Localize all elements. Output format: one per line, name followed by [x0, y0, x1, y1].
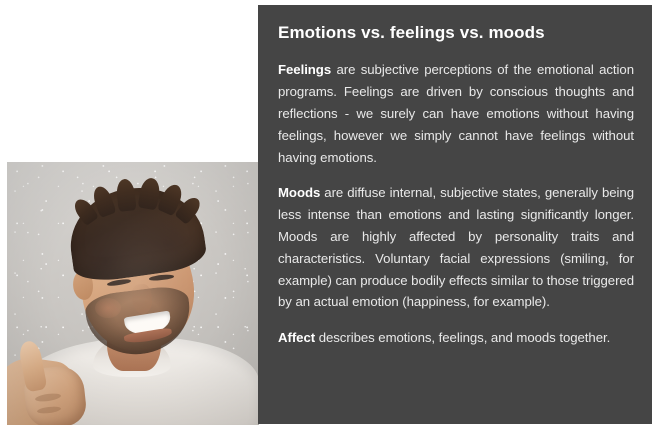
paragraph-moods: Moods are diffuse internal, subjective s…: [278, 182, 634, 313]
portrait-photo: [7, 162, 259, 425]
paragraph-body: are subjective perceptions of the emotio…: [278, 62, 634, 164]
paragraph-affect: Affect describes emotions, feelings, and…: [278, 327, 634, 349]
photo-vignette: [7, 162, 259, 425]
paragraph-body: describes emotions, feelings, and moods …: [315, 330, 610, 345]
paragraph-lead: Feelings: [278, 62, 331, 77]
panel-title: Emotions vs. feelings vs. moods: [278, 23, 634, 43]
paragraph-body: are diffuse internal, subjective states,…: [278, 185, 634, 309]
paragraph-lead: Moods: [278, 185, 320, 200]
paragraph-feelings: Feelings are subjective perceptions of t…: [278, 59, 634, 168]
page-canvas: Emotions vs. feelings vs. moods Feelings…: [0, 0, 657, 436]
paragraph-lead: Affect: [278, 330, 315, 345]
info-panel: Emotions vs. feelings vs. moods Feelings…: [258, 5, 652, 424]
